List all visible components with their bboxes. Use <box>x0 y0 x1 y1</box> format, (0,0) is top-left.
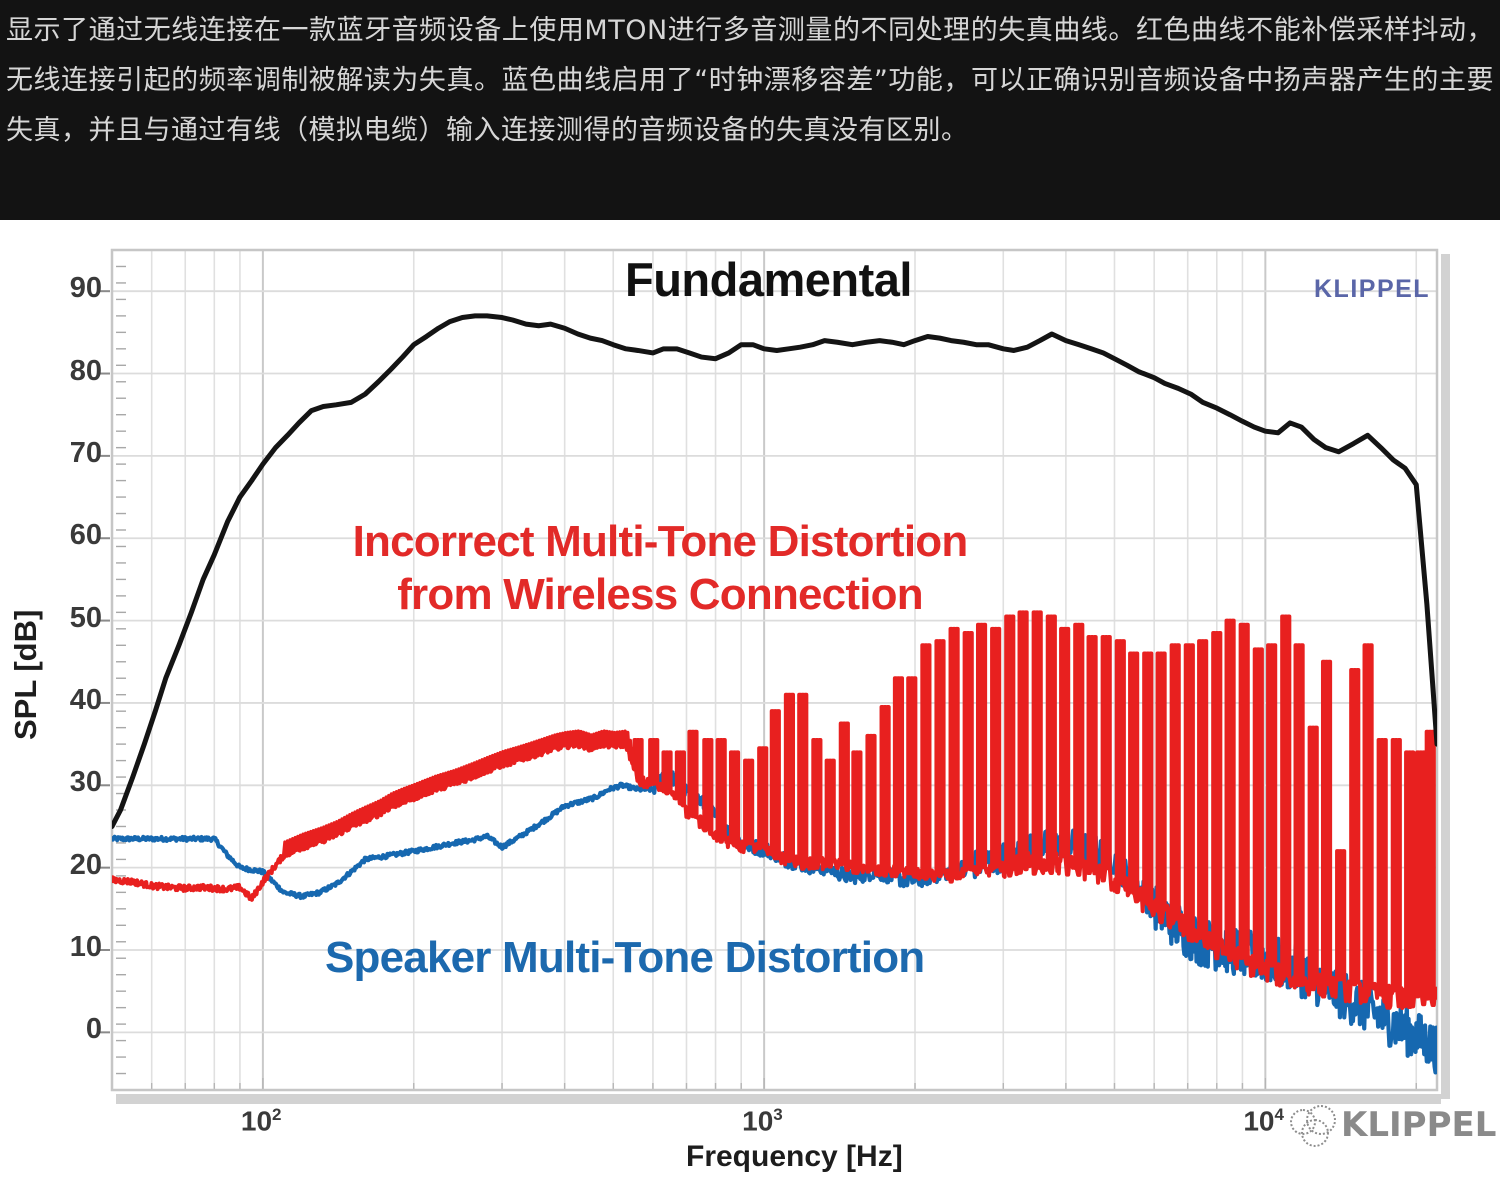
chart-svg <box>0 220 1500 1204</box>
annotation-incorrect-line1: Incorrect Multi-Tone Distortion <box>300 515 1020 568</box>
y-axis-label: SPL [dB] <box>8 610 44 740</box>
x-tick-mantissa: 10 <box>241 1105 272 1136</box>
y-tick-60: 60 <box>42 519 102 552</box>
y-tick-70: 70 <box>42 437 102 470</box>
x-tick-100: 102 <box>241 1105 282 1137</box>
caption-band: 显示了通过无线连接在一款蓝牙音频设备上使用MTON进行多音测量的不同处理的失真曲… <box>0 0 1500 220</box>
y-tick-90: 90 <box>42 272 102 305</box>
y-tick-0: 0 <box>42 1013 102 1046</box>
annotation-speaker-distortion: Speaker Multi-Tone Distortion <box>325 933 924 983</box>
y-tick-20: 20 <box>42 849 102 882</box>
x-tick-exponent: 3 <box>773 1105 782 1124</box>
klippel-watermark: KLIPPEL <box>1314 275 1430 304</box>
x-tick-1000: 103 <box>742 1105 783 1137</box>
x-tick-10000: 104 <box>1243 1105 1284 1137</box>
y-tick-30: 30 <box>42 766 102 799</box>
y-tick-80: 80 <box>42 355 102 388</box>
annotation-incorrect-line2: from Wireless Connection <box>300 568 1020 621</box>
x-tick-mantissa: 10 <box>1243 1105 1274 1136</box>
annotation-fundamental: Fundamental <box>625 252 912 307</box>
x-tick-exponent: 4 <box>1275 1105 1284 1124</box>
x-tick-mantissa: 10 <box>742 1105 773 1136</box>
annotation-incorrect-distortion: Incorrect Multi-Tone Distortion from Wir… <box>300 515 1020 621</box>
y-tick-10: 10 <box>42 931 102 964</box>
y-tick-40: 40 <box>42 684 102 717</box>
chart-figure: SPL [dB] Frequency [Hz] 102103104 010203… <box>0 220 1500 1204</box>
klippel-logo: KLIPPEL <box>1290 1105 1496 1145</box>
caption-text: 显示了通过无线连接在一款蓝牙音频设备上使用MTON进行多音测量的不同处理的失真曲… <box>6 6 1494 156</box>
klippel-dots-icon <box>1290 1105 1336 1145</box>
figure-page: 显示了通过无线连接在一款蓝牙音频设备上使用MTON进行多音测量的不同处理的失真曲… <box>0 0 1500 1204</box>
y-tick-50: 50 <box>42 602 102 635</box>
x-tick-exponent: 2 <box>272 1105 281 1124</box>
x-axis-label: Frequency [Hz] <box>686 1140 903 1174</box>
klippel-logo-text: KLIPPEL <box>1341 1105 1496 1145</box>
